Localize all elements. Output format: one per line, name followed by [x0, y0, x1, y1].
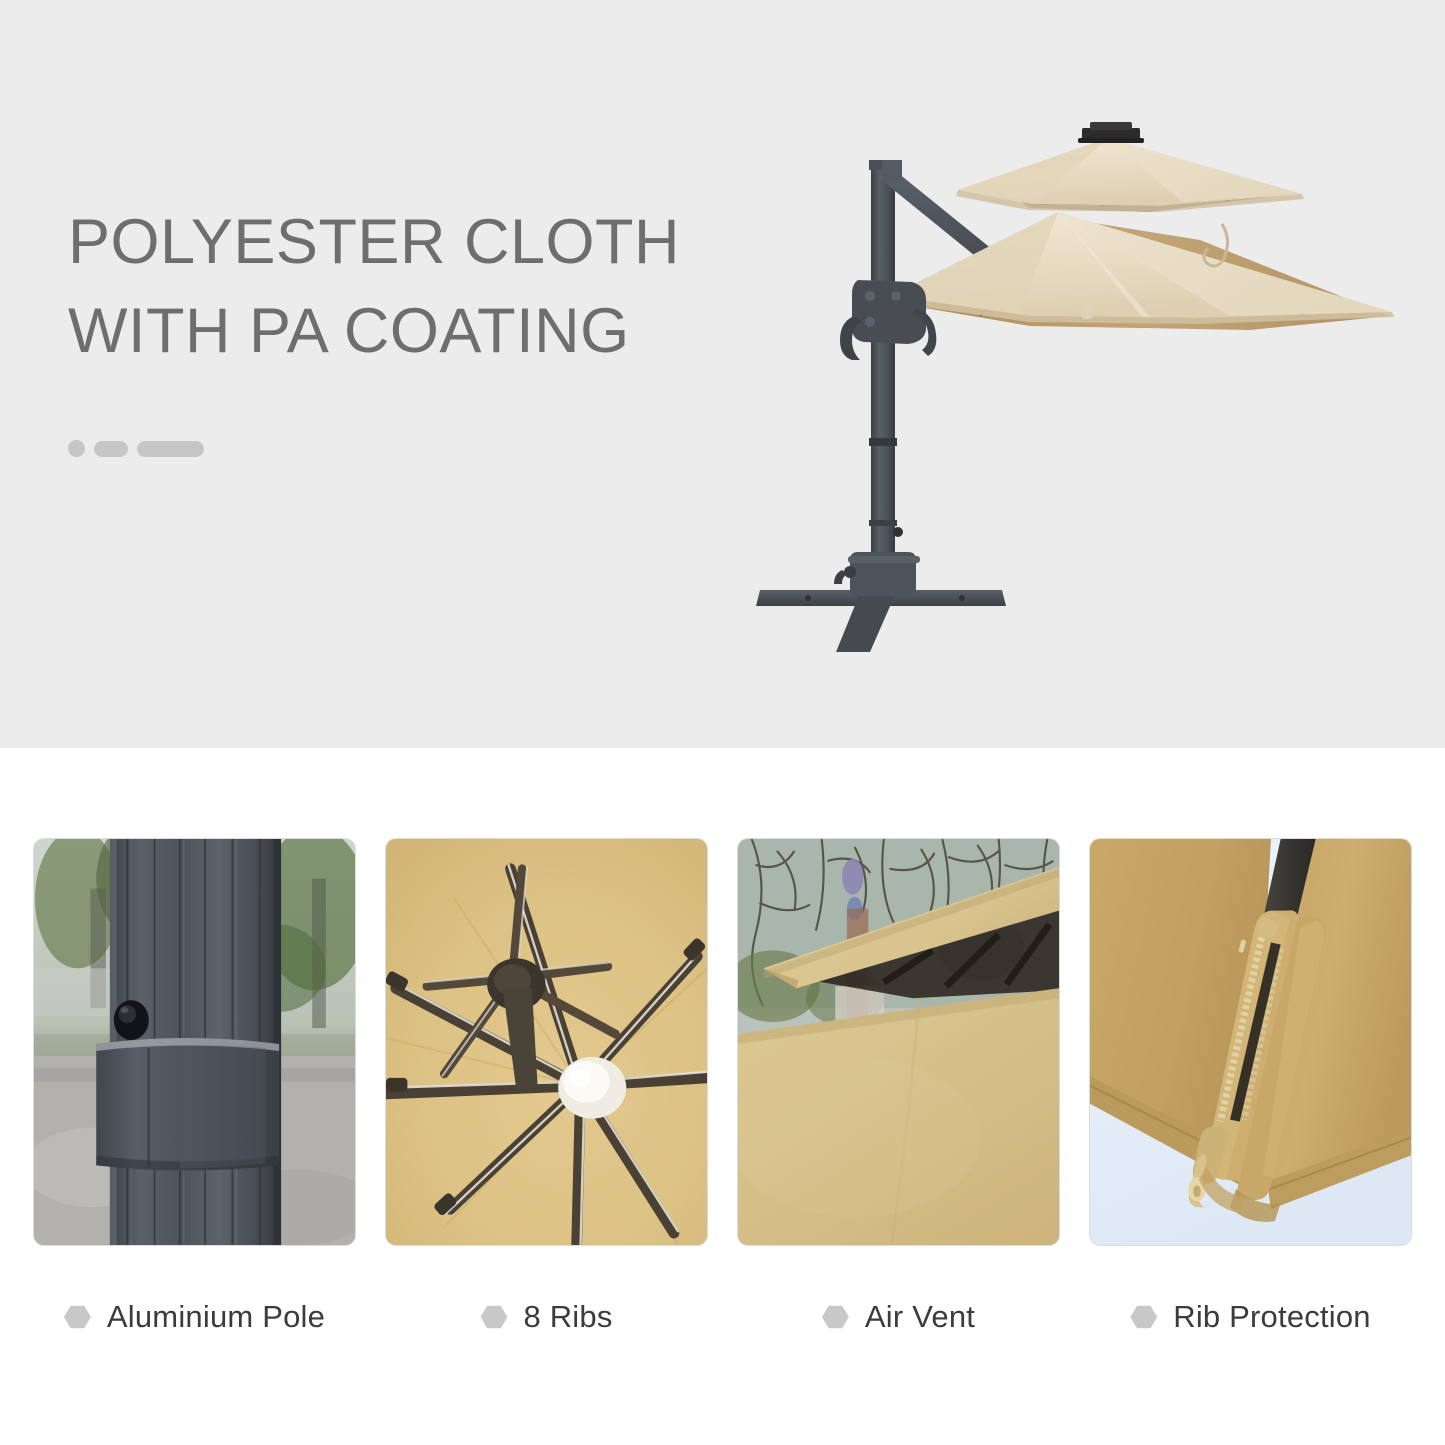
feature-label: Aluminium Pole — [107, 1299, 325, 1335]
thumbnail-aluminium-pole[interactable] — [33, 838, 356, 1246]
carousel-indicators[interactable] — [68, 440, 204, 457]
feature-label: 8 Ribs — [523, 1299, 612, 1335]
feature-caption-rib-protection: Rib Protection — [1089, 1282, 1412, 1352]
indicator-short-bar[interactable] — [94, 441, 128, 457]
hero-panel: POLYESTER CLOTH WITH PA COATING — [0, 0, 1445, 748]
hexagon-bullet-icon — [480, 1305, 507, 1329]
feature-caption-8-ribs: 8 Ribs — [385, 1282, 708, 1352]
feature-caption-row: Aluminium Pole 8 Ribs Air Vent Rib Prote… — [0, 1282, 1445, 1352]
thumbnail-rib-protection[interactable] — [1089, 838, 1412, 1246]
feature-label: Air Vent — [865, 1299, 975, 1335]
feature-label: Rib Protection — [1173, 1299, 1371, 1335]
indicator-dot[interactable] — [68, 440, 85, 457]
feature-caption-air-vent: Air Vent — [737, 1282, 1060, 1352]
feature-caption-aluminium-pole: Aluminium Pole — [33, 1282, 356, 1352]
hexagon-bullet-icon — [822, 1305, 849, 1329]
thumbnail-air-vent[interactable] — [737, 838, 1060, 1246]
thumbnail-8-ribs[interactable] — [385, 838, 708, 1246]
feature-thumbnail-strip — [0, 838, 1445, 1248]
hexagon-bullet-icon — [64, 1305, 91, 1329]
hexagon-bullet-icon — [1130, 1305, 1157, 1329]
product-image-cantilever-umbrella — [730, 120, 1430, 700]
page-title: POLYESTER CLOTH WITH PA COATING — [68, 198, 808, 377]
indicator-long-bar[interactable] — [137, 441, 204, 457]
